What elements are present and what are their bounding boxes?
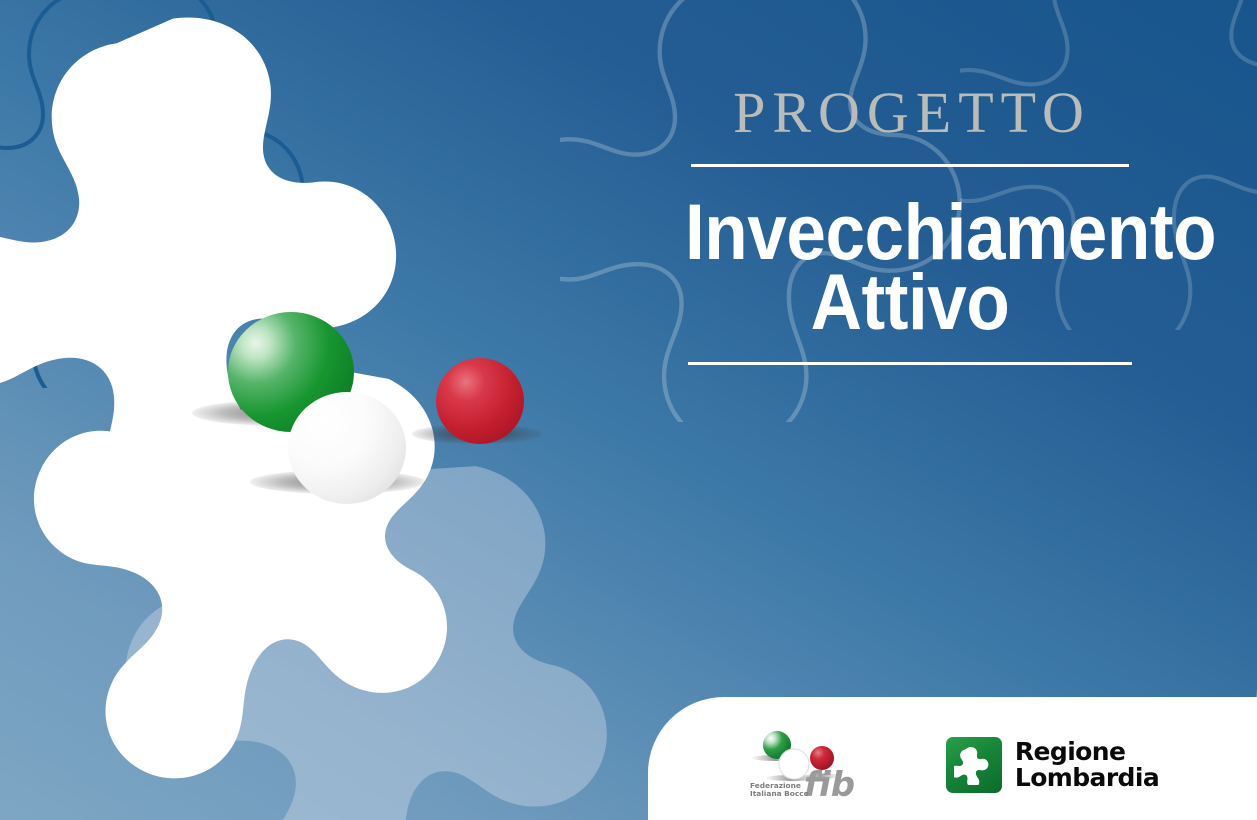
poster-canvas: PROGETTO Invecchiamento Attivo <box>0 0 1257 820</box>
red-bocce-ball <box>436 358 524 444</box>
rl-line-2: Lombardia <box>1015 765 1159 791</box>
rosa-camuna-mark-icon <box>946 737 1002 793</box>
kicker-progetto: PROGETTO <box>664 84 1160 142</box>
svg-text:fib: fib <box>804 765 855 804</box>
title-line-2: Attivo <box>685 267 1135 337</box>
logo-row: fib Federazione Italiana Bocce Regione L… <box>648 697 1257 820</box>
rule-top <box>691 164 1129 167</box>
fib-logo: fib Federazione Italiana Bocce <box>746 726 870 804</box>
rl-line-1: Regione <box>1015 739 1159 765</box>
regione-lombardia-logo: Regione Lombardia <box>946 737 1159 793</box>
page-title: Invecchiamento Attivo <box>660 197 1160 336</box>
rule-bottom <box>688 362 1132 365</box>
title-block: PROGETTO Invecchiamento Attivo <box>660 84 1160 365</box>
regione-lombardia-wordmark: Regione Lombardia <box>1015 739 1159 791</box>
fib-caption-line2: Italiana Bocce <box>750 789 809 798</box>
white-bocce-ball <box>288 392 406 504</box>
